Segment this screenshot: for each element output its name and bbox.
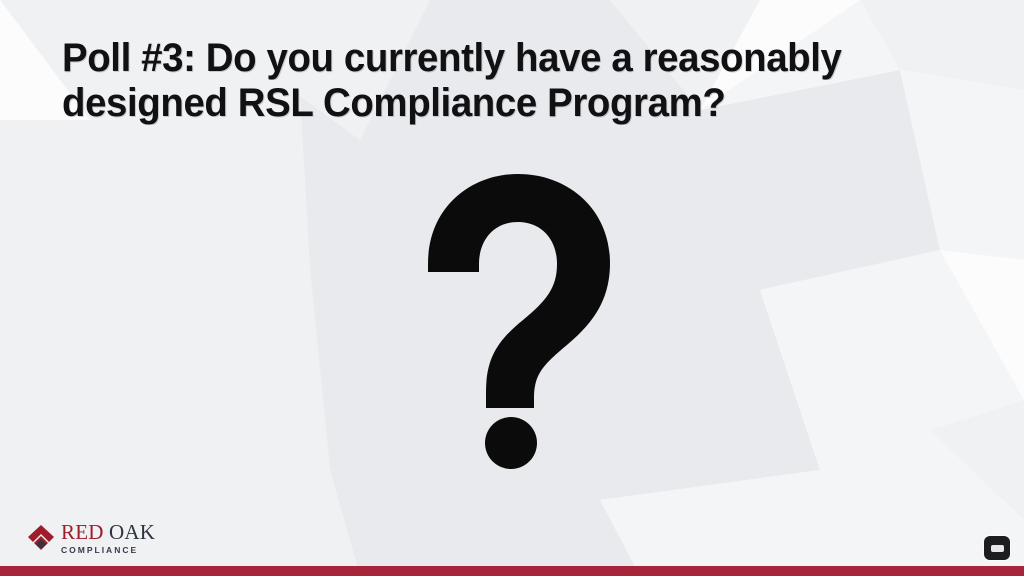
footer-accent-bar <box>0 566 1024 576</box>
present-toggle-button[interactable] <box>984 536 1010 560</box>
question-mark-icon <box>398 160 638 480</box>
page-title-line-2: designed RSL Compliance Program? <box>62 81 907 126</box>
logo-tagline: COMPLIANCE <box>61 546 155 555</box>
page-title-line-1: Poll #3: Do you currently have a reasona… <box>62 36 907 81</box>
logo-word-red: RED <box>61 520 104 544</box>
logo-name-row: RED OAK <box>61 522 155 543</box>
logo-wordmark: RED OAK COMPLIANCE <box>61 522 155 555</box>
slide-title: Poll #3: Do you currently have a reasona… <box>62 36 942 126</box>
red-oak-compliance-logo: RED OAK COMPLIANCE <box>26 522 155 555</box>
red-oak-diamond-mark <box>26 523 56 553</box>
presentation-slide: Poll #3: Do you currently have a reasona… <box>0 0 1024 576</box>
logo-word-oak: OAK <box>104 520 156 544</box>
screen-share-icon <box>991 545 1004 552</box>
